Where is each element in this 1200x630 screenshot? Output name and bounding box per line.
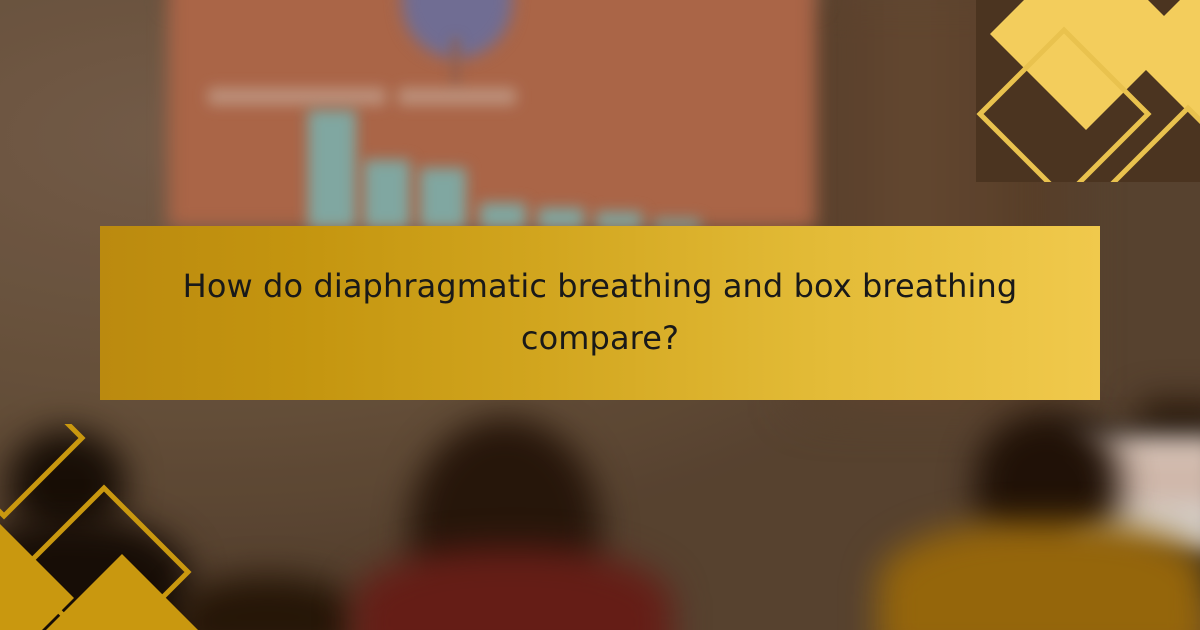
page-title: How do diaphragmatic breathing and box b… <box>174 261 1026 365</box>
share-card: How do diaphragmatic breathing and box b… <box>0 0 1200 630</box>
title-banner: How do diaphragmatic breathing and box b… <box>100 226 1100 400</box>
